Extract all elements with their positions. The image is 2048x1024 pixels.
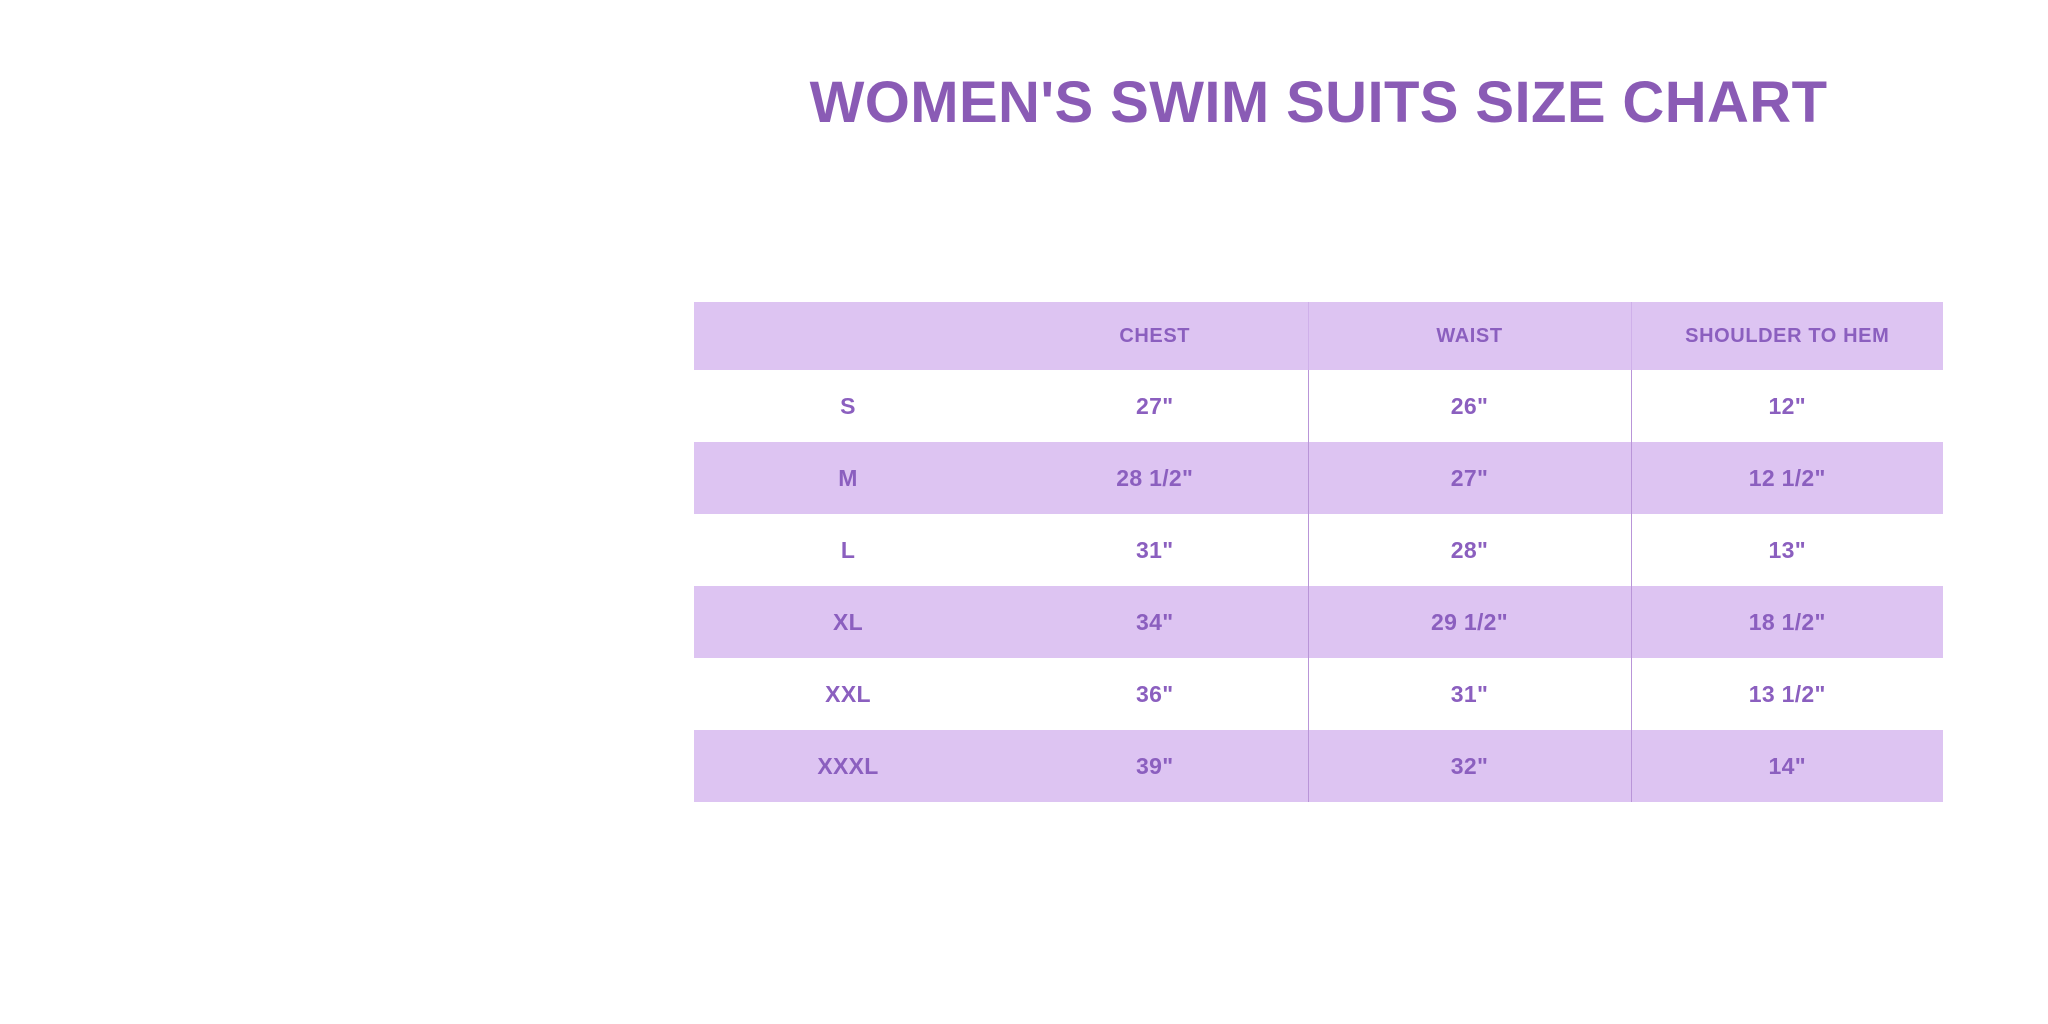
cell-size: S <box>694 370 1002 442</box>
cell-hem: 14" <box>1631 730 1943 802</box>
cell-hem: 13" <box>1631 514 1943 586</box>
table-row: XL 34" 29 1/2" 18 1/2" <box>694 586 1943 658</box>
cell-chest: 27" <box>1002 370 1308 442</box>
cell-hem: 18 1/2" <box>1631 586 1943 658</box>
cell-size: XXXL <box>694 730 1002 802</box>
table-row: M 28 1/2" 27" 12 1/2" <box>694 442 1943 514</box>
table-row: L 31" 28" 13" <box>694 514 1943 586</box>
column-header-waist: WAIST <box>1308 302 1631 370</box>
size-chart-table: CHEST WAIST SHOULDER TO HEM S 27" 26" 12… <box>694 302 1943 802</box>
cell-hem: 13 1/2" <box>1631 658 1943 730</box>
cell-chest: 36" <box>1002 658 1308 730</box>
table-row: S 27" 26" 12" <box>694 370 1943 442</box>
column-header-size <box>694 302 1002 370</box>
cell-waist: 29 1/2" <box>1308 586 1631 658</box>
cell-size: XXL <box>694 658 1002 730</box>
cell-chest: 39" <box>1002 730 1308 802</box>
table-header-row: CHEST WAIST SHOULDER TO HEM <box>694 302 1943 370</box>
cell-waist: 31" <box>1308 658 1631 730</box>
cell-size: L <box>694 514 1002 586</box>
cell-hem: 12" <box>1631 370 1943 442</box>
cell-waist: 27" <box>1308 442 1631 514</box>
cell-chest: 34" <box>1002 586 1308 658</box>
table-body: S 27" 26" 12" M 28 1/2" 27" 12 1/2" L 31… <box>694 370 1943 802</box>
table-header: CHEST WAIST SHOULDER TO HEM <box>694 302 1943 370</box>
cell-chest: 28 1/2" <box>1002 442 1308 514</box>
cell-waist: 28" <box>1308 514 1631 586</box>
page-title: WOMEN'S SWIM SUITS SIZE CHART <box>694 73 1943 134</box>
table-row: XXL 36" 31" 13 1/2" <box>694 658 1943 730</box>
cell-hem: 12 1/2" <box>1631 442 1943 514</box>
cell-chest: 31" <box>1002 514 1308 586</box>
cell-waist: 26" <box>1308 370 1631 442</box>
table-row: XXXL 39" 32" 14" <box>694 730 1943 802</box>
column-header-shoulder-to-hem: SHOULDER TO HEM <box>1631 302 1943 370</box>
cell-waist: 32" <box>1308 730 1631 802</box>
column-header-chest: CHEST <box>1002 302 1308 370</box>
cell-size: XL <box>694 586 1002 658</box>
size-chart-page: WOMEN'S SWIM SUITS SIZE CHART CHEST WAIS… <box>0 0 2048 1024</box>
cell-size: M <box>694 442 1002 514</box>
